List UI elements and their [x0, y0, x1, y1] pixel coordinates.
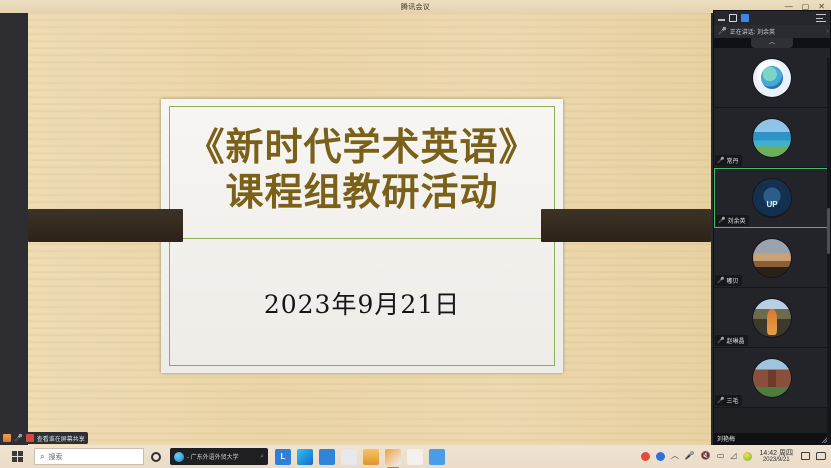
chat-icon[interactable]	[816, 452, 826, 460]
participant-tile[interactable]: 🎤 三毛	[714, 348, 830, 408]
meeting-video-panel: 🎤 正在讲话: 刘余英 ›› ︿ 🎤 常丹	[713, 10, 831, 445]
app-tencent-meeting[interactable]	[385, 449, 401, 465]
clock-date: 2023/9/21	[760, 457, 793, 463]
search-input[interactable]: ⌕ 搜索	[34, 448, 144, 465]
app-edge[interactable]	[297, 449, 313, 465]
screen-share-float-bar[interactable]: 🎤 查看谁在屏幕共享	[0, 432, 88, 444]
video-panel-scrollbar[interactable]	[827, 58, 830, 446]
avatar	[753, 119, 791, 157]
video-panel-collapse-bar: ︿	[714, 38, 830, 48]
participant-list-icon[interactable]	[816, 14, 826, 22]
slide-title: 《新时代学术英语》 课程组教研活动	[161, 125, 563, 215]
antivirus-icon[interactable]	[743, 452, 752, 461]
slide-divider-rule	[183, 238, 541, 239]
slide-date: 2023年9月21日	[161, 285, 563, 321]
participant-name: 嘟贝	[726, 276, 738, 285]
battery-icon[interactable]: ▭	[717, 452, 725, 460]
participant-name: 常丹	[726, 156, 738, 165]
app-photos[interactable]	[429, 449, 445, 465]
volume-muted-icon[interactable]: 🔇	[701, 452, 711, 460]
participant-tile[interactable]: 🎤 常丹	[714, 108, 830, 168]
slide-content: 《新时代学术英语》 课程组教研活动	[161, 99, 563, 373]
tray-app-icon-blue[interactable]	[656, 452, 665, 461]
participant-tile[interactable]	[714, 48, 830, 108]
participant-tiles[interactable]: 🎤 常丹 🎤 刘余英 🎤 嘟贝	[714, 48, 830, 433]
mic-muted-icon: 🎤	[718, 28, 727, 35]
participant-tile-active[interactable]: 🎤 刘余英	[714, 168, 830, 228]
layout-icon[interactable]	[741, 14, 749, 22]
avatar	[753, 179, 791, 217]
collapse-button[interactable]: ︿	[751, 38, 793, 48]
mic-muted-icon[interactable]: 🎤	[14, 435, 23, 442]
search-icon[interactable]: ⌕	[260, 453, 264, 461]
self-participant-name: 刘艳梅	[714, 434, 735, 443]
mic-muted-icon: 🎤	[717, 158, 724, 164]
app-wps[interactable]	[319, 449, 335, 465]
scrollbar-thumb[interactable]	[827, 208, 830, 254]
avatar	[753, 239, 791, 277]
cortana-icon	[151, 452, 161, 462]
start-button[interactable]	[0, 445, 34, 468]
screen-bezel-left	[0, 13, 28, 445]
presentation-slide: 《新时代学术英语》 课程组教研活动 2023年9月21日	[161, 99, 563, 373]
system-tray: ︿ 🎤 🔇 ▭ ◿ 14:42 周四 2023/9/21	[641, 450, 831, 464]
app-file-explorer[interactable]	[363, 449, 379, 465]
chevron-right-icon[interactable]: ››	[826, 28, 827, 35]
restore-icon[interactable]	[729, 14, 737, 22]
share-status-label: 查看谁在屏幕共享	[37, 434, 85, 443]
windows-logo-icon	[12, 451, 23, 462]
action-center-icon[interactable]	[801, 452, 810, 460]
participant-name: 刘余英	[727, 216, 745, 225]
minimize-icon[interactable]	[718, 19, 725, 21]
mic-muted-icon: 🎤	[717, 338, 724, 344]
clock-time: 14:42 周四	[760, 450, 793, 457]
participant-name-badge: 🎤 三毛	[715, 395, 742, 406]
app-l[interactable]: L	[275, 449, 291, 465]
decor-band-left	[28, 209, 183, 242]
mic-muted-icon: 🎤	[717, 278, 724, 284]
screen-root: 腾讯会议 — ▢ ✕ 《新时代学术英语》 课程组教研活动 2023年9月21日	[0, 0, 831, 468]
user-icon[interactable]	[3, 434, 11, 442]
chevron-up-icon[interactable]: ︿	[671, 452, 679, 460]
address-bar[interactable]: - 广东外语外贸大学 ⌕	[170, 448, 268, 465]
participant-name: 赵琳晶	[726, 336, 744, 345]
camera-off-icon[interactable]	[26, 434, 34, 442]
decor-band-right	[541, 209, 711, 242]
participant-name: 三毛	[726, 396, 738, 405]
participant-tile[interactable]: 🎤 嘟贝	[714, 228, 830, 288]
slide-title-line-1: 《新时代学术英语》	[161, 125, 563, 170]
avatar	[753, 59, 791, 97]
avatar	[753, 299, 791, 337]
speaking-label: 正在讲话: 刘余英	[730, 27, 775, 36]
search-placeholder: 搜索	[48, 452, 62, 462]
address-bar-text: - 广东外语外贸大学	[187, 452, 257, 461]
mic-muted-icon: 🎤	[717, 398, 724, 404]
app-mail[interactable]	[341, 449, 357, 465]
participant-name-badge: 🎤 刘余英	[716, 215, 749, 226]
window-title: 腾讯会议	[401, 2, 430, 12]
taskbar-clock[interactable]: 14:42 周四 2023/9/21	[758, 450, 795, 464]
video-panel-footer: 刘艳梅	[714, 433, 830, 444]
tray-app-icon-red[interactable]	[641, 452, 650, 461]
video-panel-toolbar	[714, 11, 830, 25]
participant-name-badge: 🎤 赵琳晶	[715, 335, 748, 346]
participant-tile[interactable]: 🎤 赵琳晶	[714, 288, 830, 348]
chevron-up-icon: ︿	[769, 40, 775, 46]
mic-on-icon: 🎤	[718, 218, 725, 224]
app-internet-explorer[interactable]	[407, 449, 423, 465]
speaking-indicator: 🎤 正在讲话: 刘余英 ››	[714, 25, 830, 38]
participant-name-badge: 🎤 常丹	[715, 155, 742, 166]
cortana-button[interactable]	[144, 452, 168, 462]
slide-title-line-2: 课程组教研活动	[161, 170, 563, 215]
mic-icon[interactable]: 🎤	[685, 452, 695, 460]
avatar	[753, 359, 791, 397]
window-titlebar: 腾讯会议 — ▢ ✕	[0, 0, 831, 13]
edge-icon	[174, 452, 184, 462]
network-icon[interactable]: ◿	[730, 452, 736, 460]
search-icon: ⌕	[40, 452, 44, 462]
taskbar-app-icons: L	[275, 449, 445, 465]
windows-taskbar: ⌕ 搜索 - 广东外语外贸大学 ⌕ L ︿ 🎤 🔇 ▭	[0, 445, 831, 468]
participant-name-badge: 🎤 嘟贝	[715, 275, 742, 286]
